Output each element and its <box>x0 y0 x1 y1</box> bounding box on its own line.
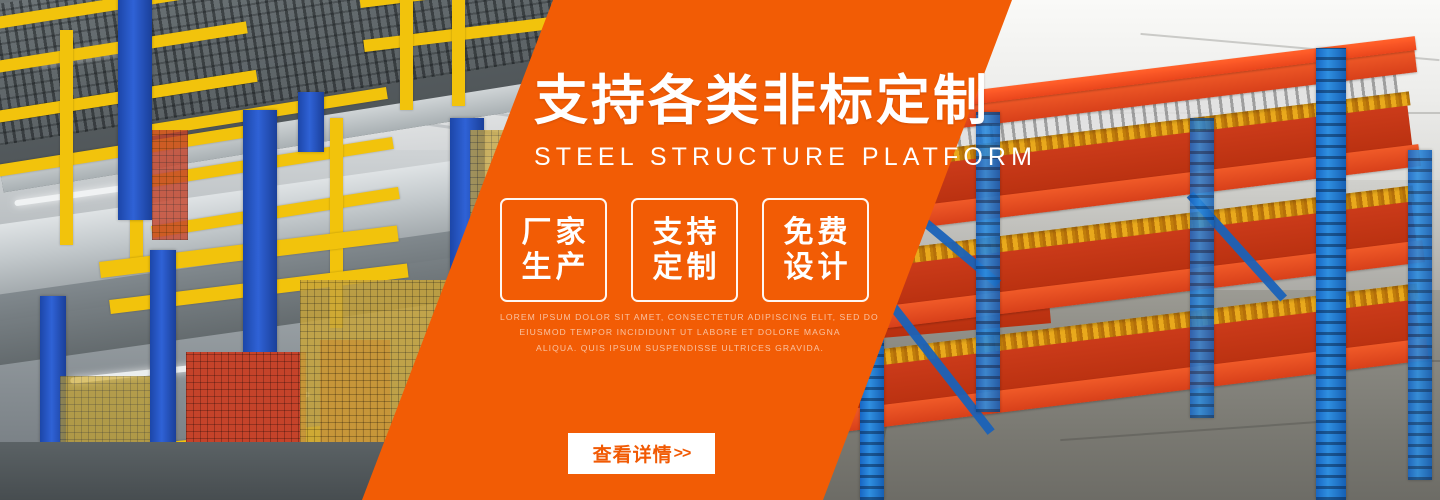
red-mesh-panel <box>152 130 188 240</box>
description-line-3: aliqua. Quis ipsum suspendisse ultrices … <box>500 341 860 356</box>
view-details-label: 查看详情 <box>593 440 673 467</box>
railing-post <box>60 30 73 245</box>
feature-badge-free-design: 免费 设计 <box>762 198 869 302</box>
banner-subtitle: STEEL STRUCTURE PLATFORM <box>534 145 1037 170</box>
page-title: 支持各类非标定制 <box>534 74 990 128</box>
platform-column <box>118 0 152 220</box>
platform-column <box>298 92 324 152</box>
badge-line-2: 定制 <box>649 250 721 285</box>
banner-description: Lorem ipsum dolor sit amet, consectetur … <box>500 310 860 356</box>
badge-line-2: 生产 <box>518 250 590 285</box>
feature-badge-manufacturing: 厂家 生产 <box>500 198 607 302</box>
chevron-right-double-icon: >> <box>674 445 691 463</box>
railing-post <box>400 0 413 110</box>
view-details-button[interactable]: 查看详情 >> <box>568 433 715 474</box>
badge-line-1: 支持 <box>649 215 721 250</box>
promo-banner: 支持各类非标定制 STEEL STRUCTURE PLATFORM 厂家 生产 … <box>0 0 1440 500</box>
description-line-2: eiusmod tempor incididunt ut labore et d… <box>500 325 860 340</box>
description-line-1: Lorem ipsum dolor sit amet, consectetur … <box>500 310 860 325</box>
rack-upright <box>1190 118 1214 418</box>
badge-line-1: 免费 <box>780 215 852 250</box>
badge-line-2: 设计 <box>780 250 852 285</box>
railing-post <box>452 0 465 106</box>
rack-upright <box>1316 48 1346 500</box>
rack-upright <box>1408 150 1432 480</box>
badge-line-1: 厂家 <box>518 215 590 250</box>
feature-badge-group: 厂家 生产 支持 定制 免费 设计 <box>500 198 869 302</box>
feature-badge-customization: 支持 定制 <box>631 198 738 302</box>
